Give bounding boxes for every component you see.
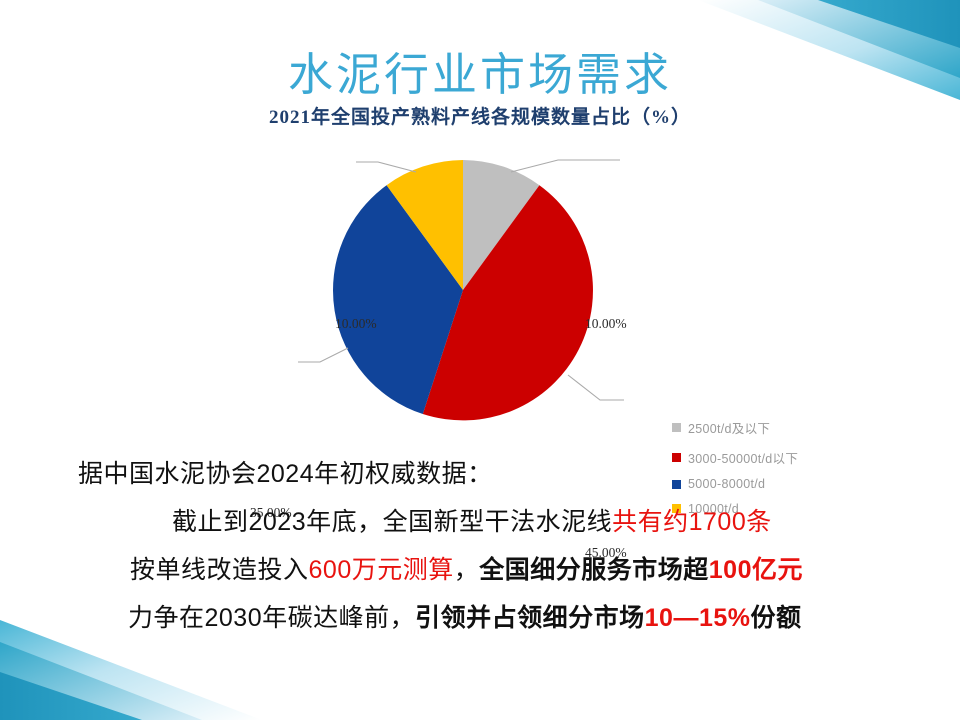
body-line-4-strong-tail: 份额	[751, 604, 802, 632]
body-line-4-plain: 力争在2030年碳达峰前，	[128, 604, 415, 632]
body-line-4: 力争在2030年碳达峰前，引领并占领细分市场10—15%份额	[0, 606, 960, 631]
slide-heading: 水泥行业市场需求 2021年全国投产熟料产线各规模数量占比（%）	[0, 50, 960, 129]
legend-label: 2500t/d及以下	[688, 418, 770, 437]
body-line-1: 据中国水泥协会2024年初权威数据：	[0, 462, 960, 487]
body-line-3-highlight: 600万元测算	[309, 556, 454, 584]
legend-swatch-icon	[672, 423, 681, 432]
leader-line-red	[568, 375, 624, 400]
body-line-3: 按单线改造投入600万元测算，全国细分服务市场超100亿元	[0, 558, 960, 583]
body-line-2-plain: 截止到2023年底，全国新型干法水泥线	[172, 508, 612, 536]
pie-label-yellow: 10.00%	[335, 316, 377, 332]
pie-label-gray: 10.00%	[585, 316, 627, 332]
legend-item: 2500t/d及以下	[672, 418, 798, 437]
leader-line-gray	[511, 160, 620, 172]
body-line-3-comma: ，	[454, 556, 480, 584]
body-line-2: 截止到2023年底，全国新型干法水泥线共有约1700条	[0, 510, 960, 535]
body-line-3-plain: 按单线改造投入	[130, 556, 309, 584]
body-line-2-highlight: 共有约1700条	[612, 508, 772, 536]
pie-chart	[228, 150, 688, 440]
body-line-4-strong-highlight: 10—15%	[645, 604, 751, 632]
leader-line-yellow	[356, 162, 416, 172]
body-line-3-strong-highlight: 100亿元	[709, 556, 803, 584]
body-line-4-strong: 引领并占领细分市场	[415, 604, 645, 632]
body-line-1-text: 据中国水泥协会2024年初权威数据：	[78, 460, 493, 488]
body-text-block: 据中国水泥协会2024年初权威数据： 截止到2023年底，全国新型干法水泥线共有…	[0, 462, 960, 654]
pie-chart-section: 10.00% 10.00% 35.00% 45.00% 2500t/d及以下 3…	[0, 150, 960, 450]
legend-swatch-icon	[672, 453, 681, 462]
leader-line-blue	[298, 348, 348, 362]
chart-title: 2021年全国投产熟料产线各规模数量占比（%）	[0, 102, 960, 129]
body-line-3-strong: 全国细分服务市场超	[479, 556, 709, 584]
page-title: 水泥行业市场需求	[0, 50, 960, 100]
